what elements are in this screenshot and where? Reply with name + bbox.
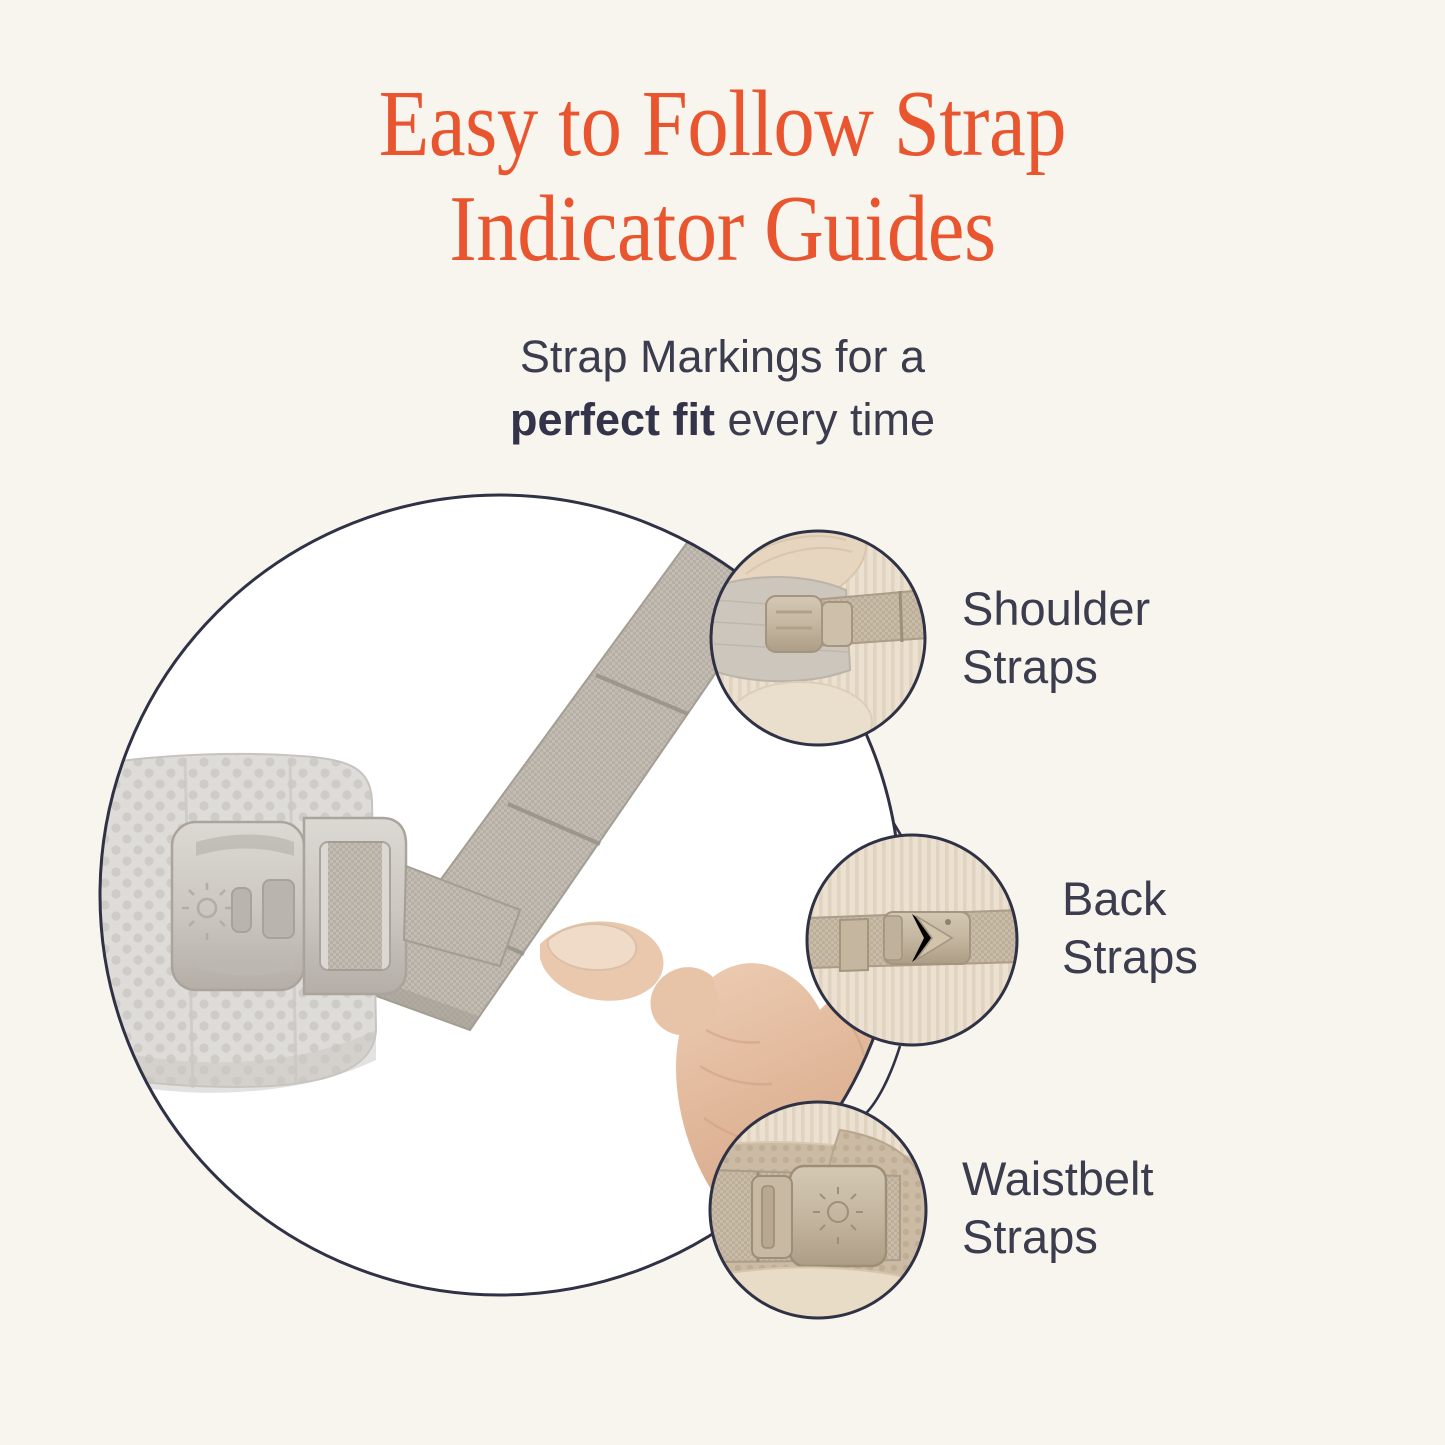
subtitle-suffix: every time bbox=[715, 394, 935, 445]
back-strap-slider-buckle bbox=[884, 912, 970, 964]
callout-label-back: Back Straps bbox=[1062, 870, 1198, 987]
callout-circle-back[interactable] bbox=[807, 835, 1022, 1045]
strap-guide-diagram bbox=[0, 470, 1445, 1445]
header: Easy to Follow Strap Indicator Guides St… bbox=[0, 0, 1445, 452]
shoulder-strap-indicator-mark bbox=[900, 591, 902, 642]
subtitle-line-1: Strap Markings for a bbox=[0, 325, 1445, 389]
page-title: Easy to Follow Strap Indicator Guides bbox=[87, 72, 1359, 283]
subtitle-line-2: perfect fit every time bbox=[0, 388, 1445, 452]
subtitle-emphasis: perfect fit bbox=[510, 394, 715, 445]
headline-line-1: Easy to Follow Strap bbox=[157, 72, 1288, 177]
headline-line-2: Indicator Guides bbox=[157, 177, 1288, 282]
page-subtitle: Strap Markings for a perfect fit every t… bbox=[0, 283, 1445, 453]
strap-guide-figure: Shoulder Straps Back Straps Waistbelt St… bbox=[0, 470, 1445, 1445]
callout-label-waistbelt: Waistbelt Straps bbox=[962, 1150, 1154, 1267]
waistbelt-buckle bbox=[752, 1166, 886, 1266]
callout-label-shoulder: Shoulder Straps bbox=[962, 580, 1150, 697]
shoulder-buckle bbox=[766, 596, 852, 652]
callout-circle-waistbelt[interactable] bbox=[710, 1098, 926, 1318]
